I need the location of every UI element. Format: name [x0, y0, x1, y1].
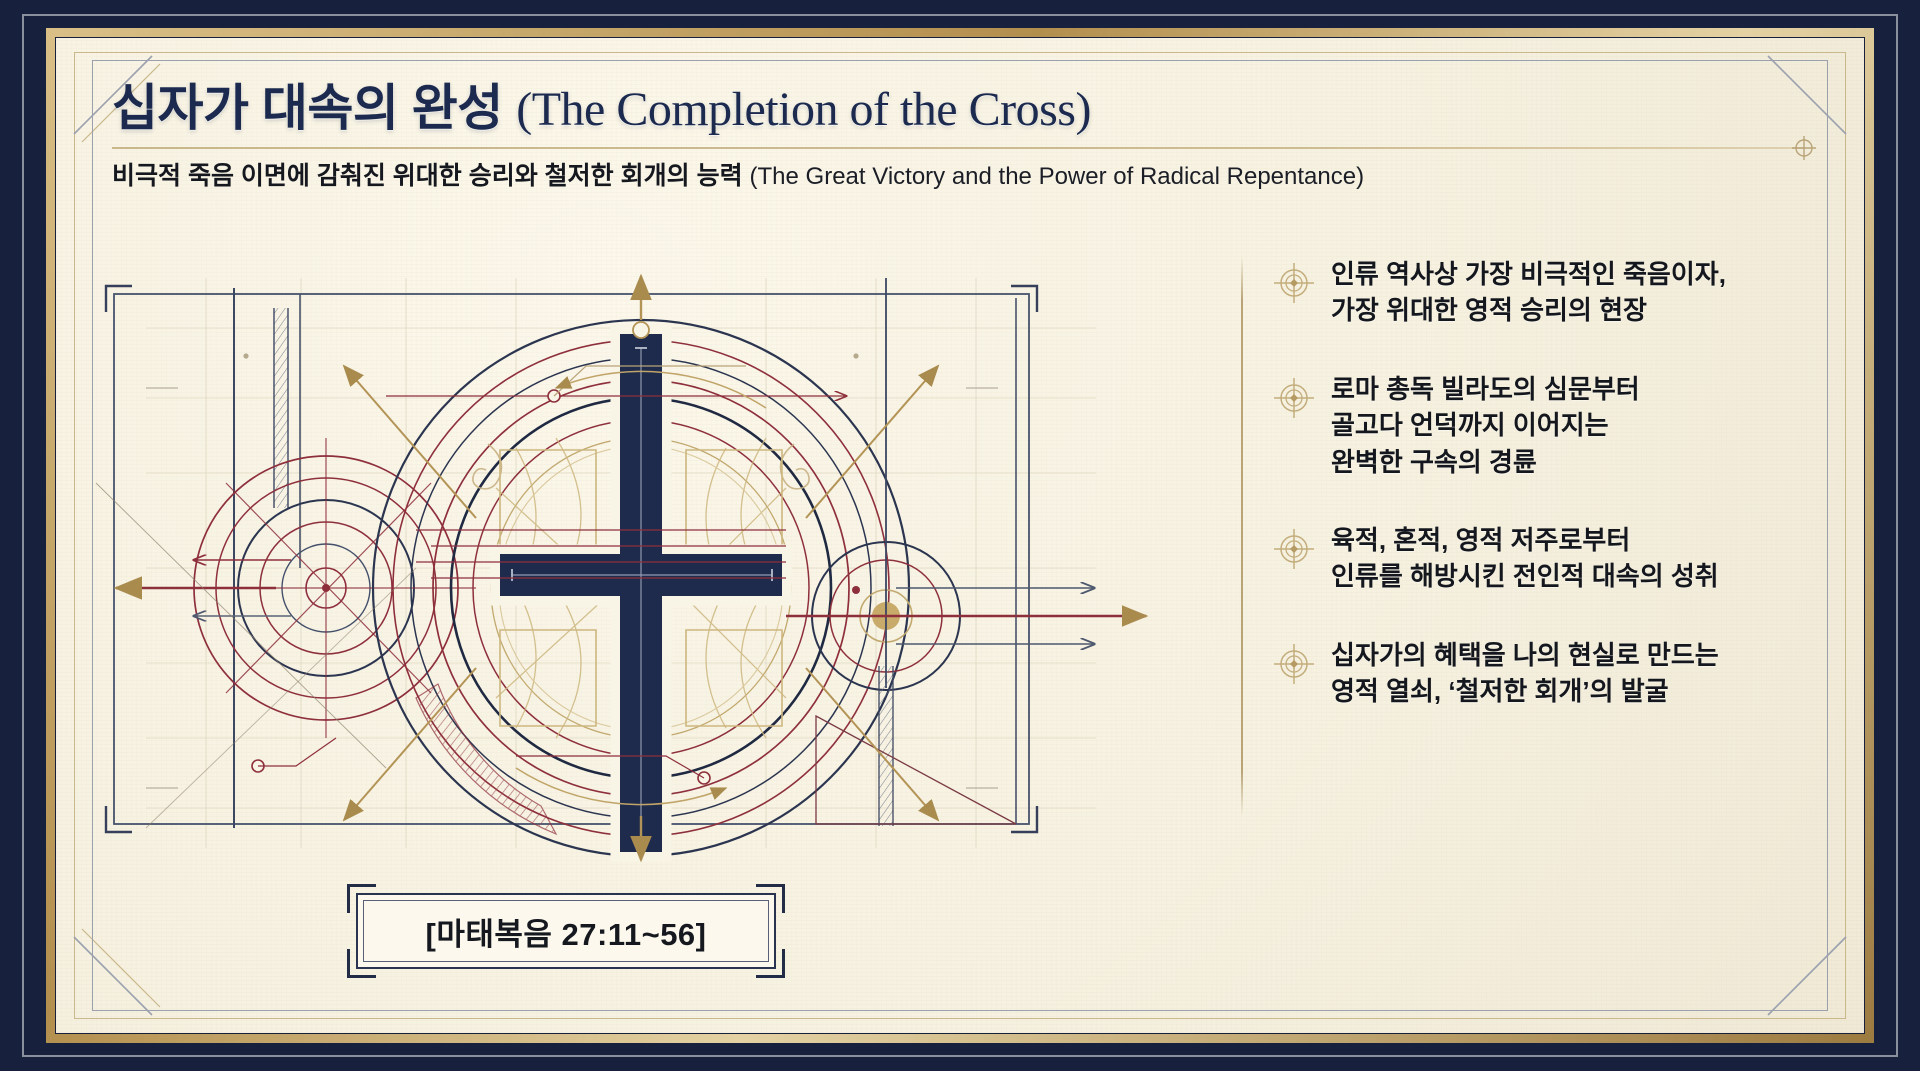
page-title-english: (The Completion of the Cross): [516, 83, 1091, 136]
list-item-label: 십자가의 혜택을 나의 현실로 만드는 영적 열쇠, ‘철저한 회개’의 발굴: [1331, 637, 1719, 710]
page-subtitle-english: (The Great Victory and the Power of Radi…: [750, 163, 1365, 190]
list-item: 육적, 혼적, 영적 저주로부터 인류를 해방시킨 전인적 대속의 성취: [1271, 522, 1864, 595]
page-subtitle: 비극적 죽음 이면에 감춰진 위대한 승리와 철저한 회개의 능력 (The G…: [112, 161, 1824, 192]
cross-blueprint-illustration: [86, 268, 1196, 868]
crosshair-target-icon: [1271, 526, 1317, 572]
slide-root: 십자가 대속의 완성 (The Completion of the Cross)…: [0, 0, 1920, 1071]
title-divider-rule: [112, 147, 1804, 149]
scripture-reference-box: [마태복음 27:11~56]: [356, 893, 776, 969]
list-item-label: 인류 역사상 가장 비극적인 죽음이자, 가장 위대한 영적 승리의 현장: [1331, 256, 1726, 329]
list-item: 십자가의 혜택을 나의 현실로 만드는 영적 열쇠, ‘철저한 회개’의 발굴: [1271, 637, 1864, 710]
key-points-list: 인류 역사상 가장 비극적인 죽음이자, 가장 위대한 영적 승리의 현장 로마…: [1271, 256, 1864, 752]
list-item-label: 로마 총독 빌라도의 심문부터 골고다 언덕까지 이어지는 완벽한 구속의 경륜: [1331, 371, 1640, 480]
slide-header: 십자가 대속의 완성 (The Completion of the Cross)…: [112, 80, 1824, 192]
slide-body: [마태복음 27:11~56] 인류 역: [56, 238, 1864, 1033]
crosshair-target-icon: [1271, 260, 1317, 306]
list-item: 인류 역사상 가장 비극적인 죽음이자, 가장 위대한 영적 승리의 현장: [1271, 256, 1864, 329]
list-item: 로마 총독 빌라도의 심문부터 골고다 언덕까지 이어지는 완벽한 구속의 경륜: [1271, 371, 1864, 480]
page-subtitle-korean: 비극적 죽음 이면에 감춰진 위대한 승리와 철저한 회개의 능력: [112, 162, 743, 190]
slide-paper-surface: 십자가 대속의 완성 (The Completion of the Cross)…: [56, 38, 1864, 1033]
page-title: 십자가 대속의 완성 (The Completion of the Cross): [112, 80, 1824, 137]
crosshair-target-icon: [1271, 375, 1317, 421]
crosshair-target-icon: [1790, 134, 1818, 162]
crosshair-target-icon: [1271, 641, 1317, 687]
content-vertical-divider: [1241, 256, 1243, 816]
scripture-reference-text: [마태복음 27:11~56]: [356, 893, 776, 969]
list-item-label: 육적, 혼적, 영적 저주로부터 인류를 해방시킨 전인적 대속의 성취: [1331, 522, 1719, 595]
page-title-korean: 십자가 대속의 완성: [112, 80, 503, 136]
